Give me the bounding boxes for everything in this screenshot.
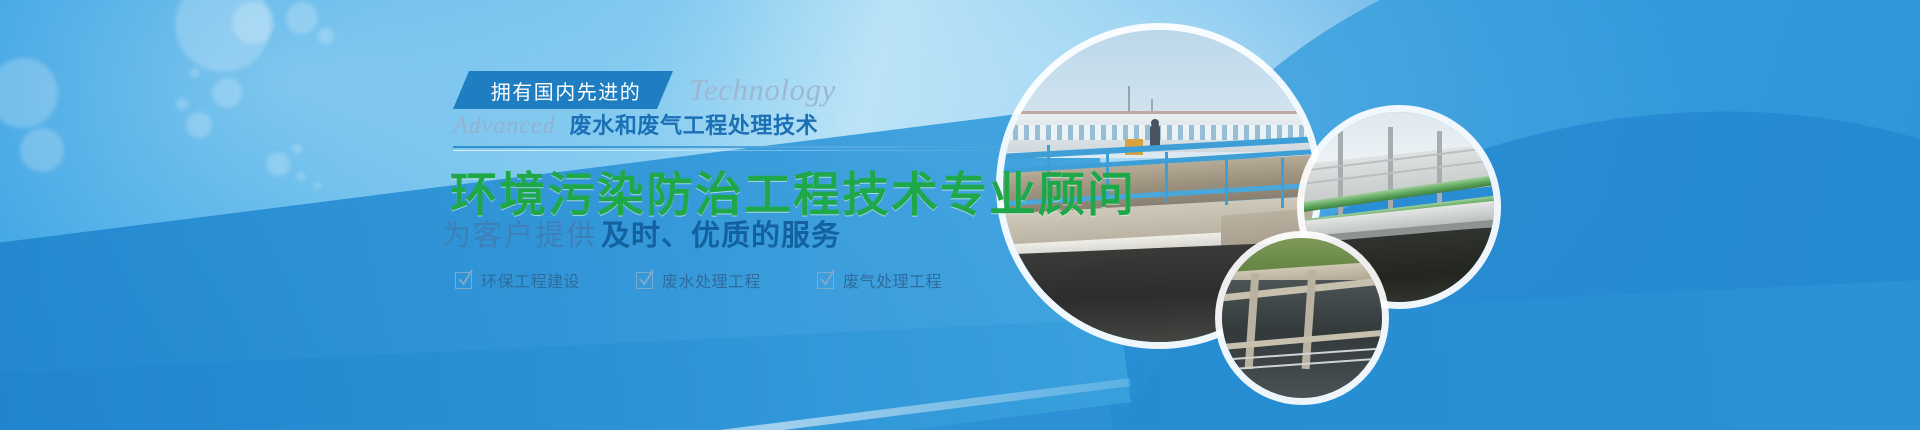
feature-item-3[interactable]: 废气处理工程: [817, 268, 942, 292]
feature-label: 废水处理工程: [662, 268, 761, 292]
divider-rule: [453, 146, 1013, 148]
divider-rule-highlight: [453, 150, 1013, 151]
feature-item-1[interactable]: 环保工程建设: [455, 268, 580, 292]
kicker-english-word: Technology: [689, 72, 836, 108]
kicker-row: 拥有国内先进的 Technology: [453, 70, 836, 110]
aerial-sedimentation-tank-photo: [1222, 238, 1382, 398]
kicker-tag-label: 拥有国内先进的: [491, 76, 642, 105]
kicker-tag: 拥有国内先进的: [453, 71, 673, 109]
tagline: 为客户提供 及时、优质的服务: [442, 212, 841, 254]
tagline-lead: 为客户提供: [442, 212, 597, 254]
feature-item-2[interactable]: 废水处理工程: [636, 268, 761, 292]
hero-copy: 拥有国内先进的 Technology Advanced 废水和废气工程处理技术 …: [0, 0, 1030, 430]
checkbox-check-icon: [636, 272, 653, 289]
subtitle-row: Advanced 废水和废气工程处理技术: [453, 108, 1013, 144]
hero-banner: 拥有国内先进的 Technology Advanced 废水和废气工程处理技术 …: [0, 0, 1920, 430]
feature-label: 环保工程建设: [481, 268, 580, 292]
checkbox-check-icon: [455, 272, 472, 289]
subtitle-chinese: 废水和废气工程处理技术: [570, 108, 819, 140]
tagline-emphasis: 及时、优质的服务: [601, 212, 841, 254]
checkbox-check-icon: [817, 272, 834, 289]
feature-list: 环保工程建设 废水处理工程 废气处理工程: [455, 268, 942, 292]
feature-label: 废气处理工程: [843, 268, 942, 292]
subtitle-english: Advanced: [453, 113, 556, 140]
